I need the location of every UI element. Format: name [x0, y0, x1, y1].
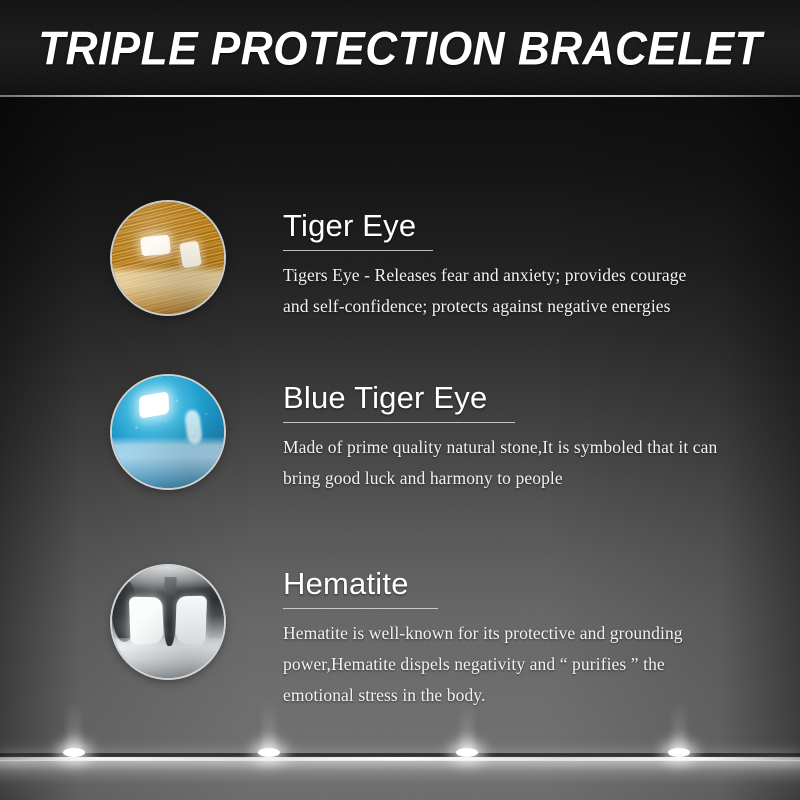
light-beam — [672, 700, 686, 754]
title-divider — [0, 95, 800, 97]
light-point — [258, 748, 280, 757]
product-infographic: TRIPLE PROTECTION BRACELET Tiger Eye Tig… — [0, 0, 800, 800]
light-beam — [67, 700, 81, 754]
tiger-eye-text-block: Tiger Eye Tigers Eye - Releases fear and… — [283, 210, 733, 322]
hematite-text-block: Hematite Hematite is well-known for its … — [283, 568, 733, 711]
tiger-eye-bead-icon — [112, 202, 224, 314]
stone-name-hematite: Hematite — [283, 568, 733, 601]
stone-name-blue-tiger-eye: Blue Tiger Eye — [283, 382, 733, 415]
light-beam — [460, 700, 474, 754]
blue-tiger-eye-text-block: Blue Tiger Eye Made of prime quality nat… — [283, 382, 733, 494]
light-point — [63, 748, 85, 757]
hematite-bead-icon — [112, 566, 224, 678]
light-point — [668, 748, 690, 757]
page-title: TRIPLE PROTECTION BRACELET — [0, 21, 800, 76]
blue-tiger-eye-bead-icon — [112, 376, 224, 488]
stone-description-hematite: Hematite is well-known for its protectiv… — [283, 618, 713, 711]
light-beam — [262, 700, 276, 754]
stone-description-blue-tiger-eye: Made of prime quality natural stone,It i… — [283, 432, 719, 494]
stone-name-underline — [283, 250, 433, 251]
title-banner: TRIPLE PROTECTION BRACELET — [0, 0, 800, 96]
stone-name-underline — [283, 608, 438, 609]
floor-reflection — [0, 760, 800, 800]
page-title-text: TRIPLE PROTECTION BRACELET — [38, 21, 762, 76]
stone-description-tiger-eye: Tigers Eye - Releases fear and anxiety; … — [283, 260, 715, 322]
light-point — [456, 748, 478, 757]
stone-name-tiger-eye: Tiger Eye — [283, 210, 733, 243]
stone-name-underline — [283, 422, 515, 423]
